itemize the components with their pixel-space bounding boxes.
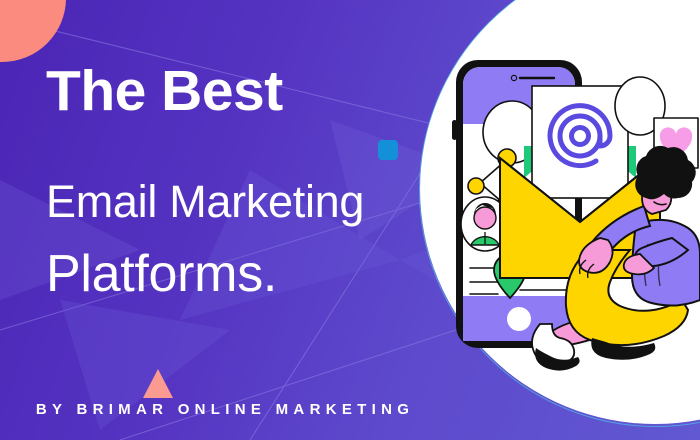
promo-banner: The Best Email Marketing Platforms. BY B…: [0, 0, 700, 440]
coral-triangle-decoration: [143, 369, 173, 398]
headline-line-2: Email Marketing: [46, 178, 446, 225]
headline-line-1: The Best: [46, 62, 446, 120]
byline-credit: BY BRIMAR ONLINE MARKETING: [10, 401, 440, 418]
email-marketing-illustration: [440, 38, 700, 398]
headline-block: The Best Email Marketing Platforms.: [46, 62, 446, 302]
email-letter: [532, 86, 628, 198]
headline-line-3: Platforms.: [46, 247, 446, 302]
